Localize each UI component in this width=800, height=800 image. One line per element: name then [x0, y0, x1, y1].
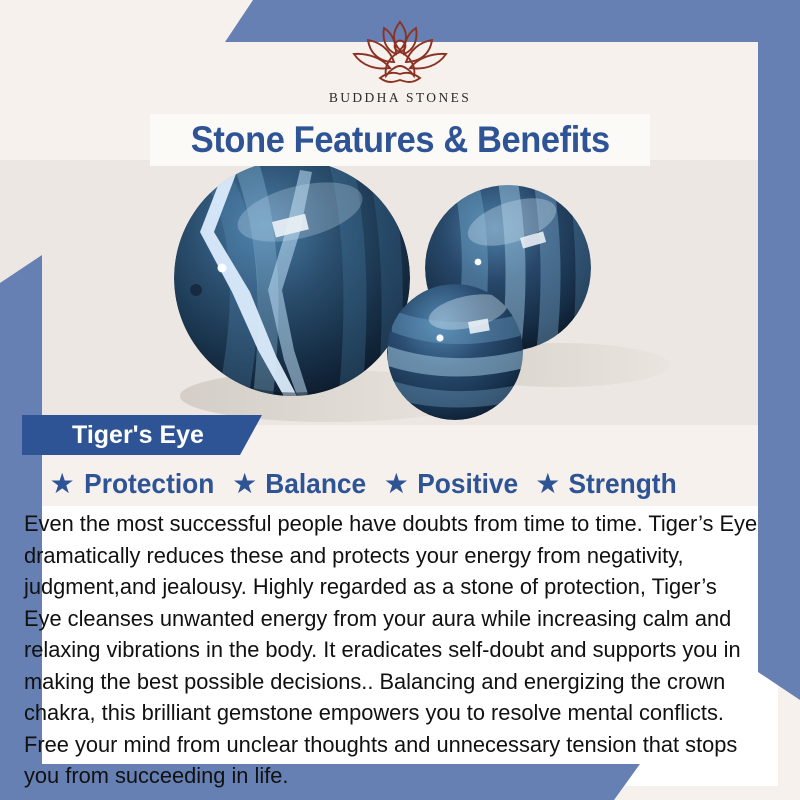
header: BUDDHA STONES Stone Features & Benefits [0, 0, 800, 172]
star-icon: ★ [232, 470, 257, 498]
brand-name: BUDDHA STONES [329, 90, 471, 106]
benefit-label: Strength [569, 468, 677, 500]
page-title: Stone Features & Benefits [190, 119, 609, 161]
benefit-label: Protection [84, 468, 214, 500]
stone-photo [0, 160, 800, 425]
star-icon: ★ [535, 470, 560, 498]
small-sphere [387, 284, 524, 420]
stone-photo-graphic [0, 160, 800, 425]
benefit-item: ★ Strength [535, 468, 694, 500]
description-text: Even the most successful people have dou… [24, 508, 757, 792]
lotus-meditation-icon [340, 16, 460, 92]
poster: BUDDHA STONES Stone Features & Benefits … [0, 0, 800, 800]
title-band: Stone Features & Benefits [150, 114, 650, 166]
star-icon: ★ [50, 470, 75, 498]
stone-name-banner: Tiger's Eye [22, 415, 262, 455]
star-icon: ★ [384, 470, 409, 498]
benefit-label: Balance [266, 468, 367, 500]
stone-name-label: Tiger's Eye [22, 421, 204, 450]
benefit-label: Positive [417, 468, 518, 500]
benefit-item: ★ Protection [50, 468, 233, 500]
benefit-item: ★ Positive [384, 468, 536, 500]
benefits-row: ★ Protection ★ Balance ★ Positive ★ Stre… [22, 462, 722, 506]
benefit-item: ★ Balance [232, 468, 384, 500]
